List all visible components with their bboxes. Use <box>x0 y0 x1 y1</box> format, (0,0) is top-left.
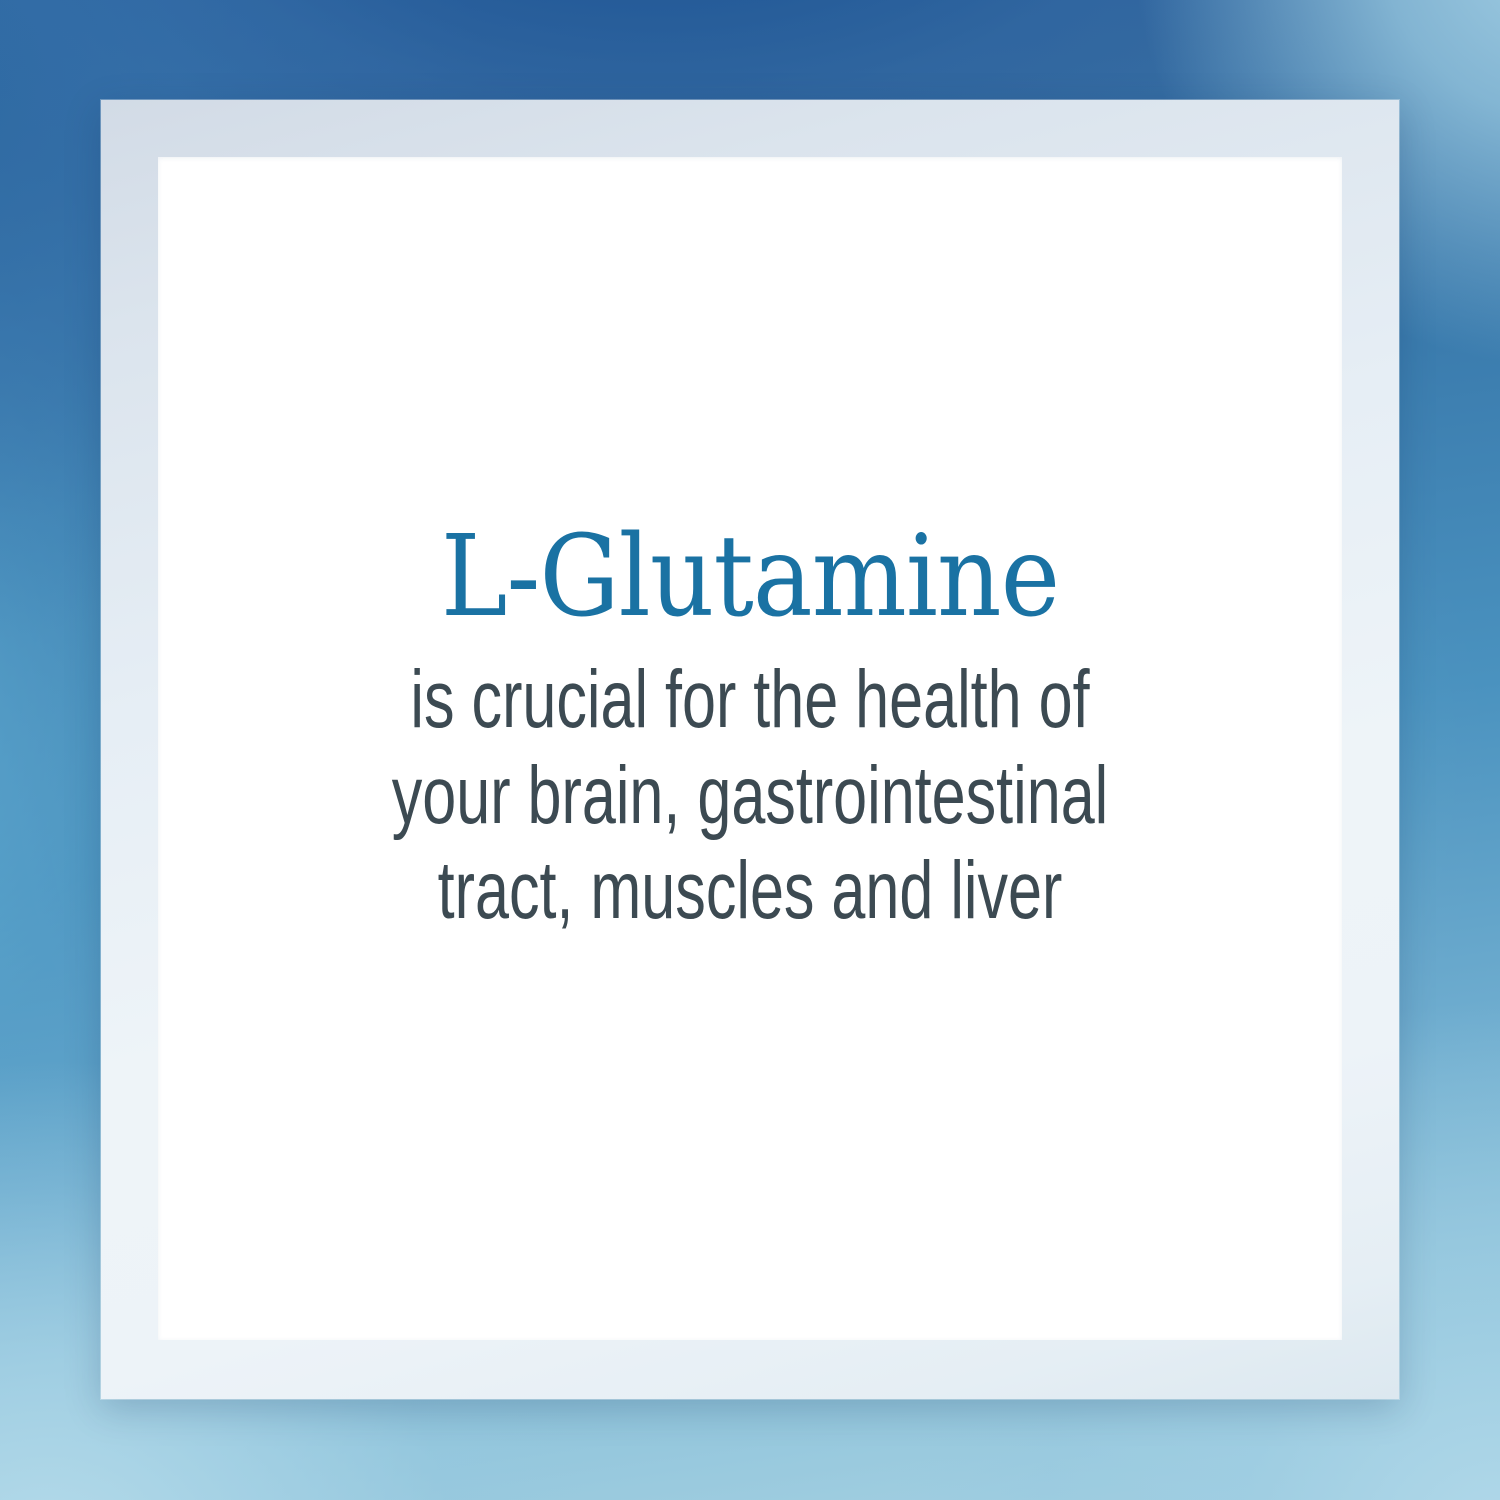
body-copy-line-2: your brain, gastrointestinal <box>309 748 1191 844</box>
body-copy-line-3: tract, muscles and liver <box>309 843 1191 939</box>
body-copy-line-1: is crucial for the health of <box>309 652 1191 748</box>
text-block: L-Glutamine is crucial for the health of… <box>158 520 1342 939</box>
text-card: L-Glutamine is crucial for the health of… <box>101 100 1399 1399</box>
page-title: L-Glutamine <box>220 520 1280 634</box>
card-inner-panel: L-Glutamine is crucial for the health of… <box>158 157 1342 1340</box>
body-copy: is crucial for the health of your brain,… <box>309 652 1191 939</box>
